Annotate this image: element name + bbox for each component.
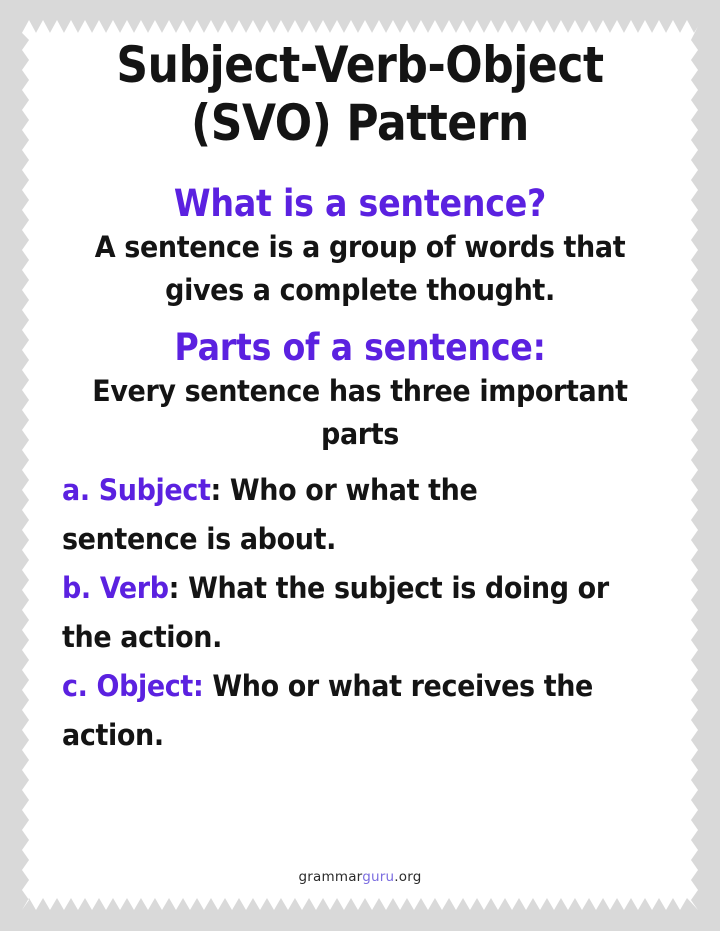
section-body-line: parts (83, 413, 637, 456)
watermark-text-before: grammar (299, 869, 363, 885)
parts-list: a. Subject: Who or what the sentence is … (62, 466, 658, 760)
watermark-text-after: .org (394, 869, 421, 885)
page-title-line-1: Subject-Verb-Object (98, 36, 622, 94)
poster-content: Subject-Verb-Object (SVO) Pattern What i… (62, 36, 658, 760)
list-spacer (62, 456, 658, 466)
section-body-line: A sentence is a group of words that (83, 226, 637, 269)
page-title-line-2: (SVO) Pattern (98, 94, 622, 152)
watermark-text-accent: guru (362, 869, 394, 885)
title-spacer (62, 152, 658, 182)
list-item: c. Object: Who or what receives the acti… (62, 662, 616, 760)
part-marker: c. (62, 669, 88, 703)
poster-stage: Subject-Verb-Object (SVO) Pattern What i… (0, 0, 720, 931)
part-term: Subject (99, 473, 211, 507)
part-colon: : (193, 669, 203, 703)
list-item: b. Verb: What the subject is doing or th… (62, 564, 616, 662)
section-body-parts-of-a-sentence: Every sentence has three important parts (83, 370, 637, 456)
section-spacer (62, 312, 658, 326)
section-body-line: Every sentence has three important (83, 370, 637, 413)
footer-watermark: grammarguru.org (22, 869, 698, 885)
section-body-line: gives a complete thought. (83, 269, 637, 312)
part-term: Object (97, 669, 193, 703)
part-colon: : (169, 571, 179, 605)
section-body-what-is-a-sentence: A sentence is a group of words that give… (83, 226, 637, 312)
part-marker: a. (62, 473, 90, 507)
part-term: Verb (100, 571, 169, 605)
poster-card: Subject-Verb-Object (SVO) Pattern What i… (22, 20, 698, 912)
list-item: a. Subject: Who or what the sentence is … (62, 466, 616, 564)
part-marker: b. (62, 571, 91, 605)
section-heading-what-is-a-sentence: What is a sentence? (92, 182, 628, 226)
part-colon: : (210, 473, 220, 507)
section-heading-parts-of-a-sentence: Parts of a sentence: (92, 326, 628, 370)
page-title: Subject-Verb-Object (SVO) Pattern (98, 36, 622, 152)
